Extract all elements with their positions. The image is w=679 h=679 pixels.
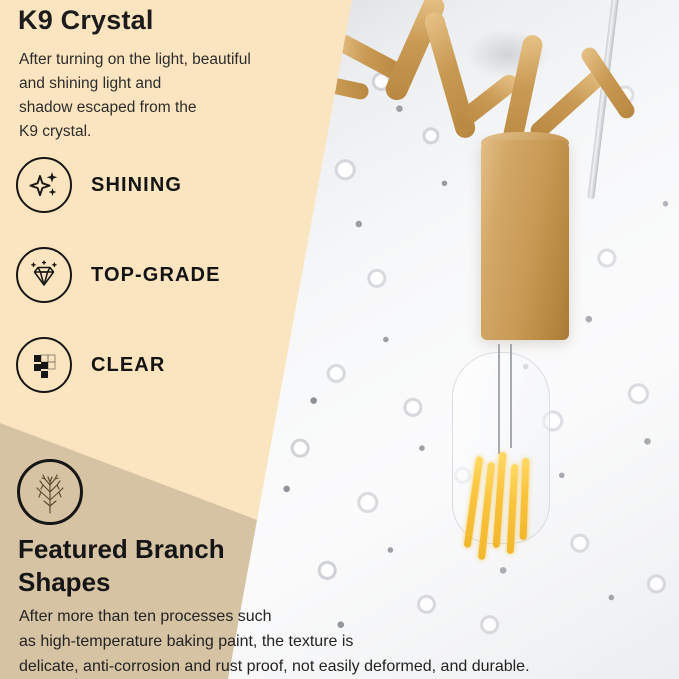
section-paragraph-line: After more than ten processes such — [19, 604, 669, 629]
intro-paragraph: After turning on the light, beautiful an… — [19, 48, 339, 144]
page-title: K9 Crystal — [18, 5, 154, 36]
intro-line: After turning on the light, beautiful — [19, 48, 339, 72]
section-paragraph-line: as high-temperature baking paint, the te… — [19, 629, 669, 654]
intro-line: and shining light and — [19, 72, 339, 96]
feature-item-top-grade: TOP-GRADE — [16, 247, 221, 303]
intro-line: K9 crystal. — [19, 120, 339, 144]
bare-tree-branch-icon — [17, 459, 83, 525]
section-paragraph-line: delicate, anti-corrosion and rust proof,… — [19, 654, 669, 679]
feature-item-clear: CLEAR — [16, 337, 165, 393]
feature-label: SHINING — [91, 174, 182, 197]
gold-lamp-socket — [481, 140, 569, 340]
product-feature-panel: K9 Crystal After turning on the light, b… — [0, 0, 679, 679]
section-paragraph: After more than ten processes such as hi… — [19, 604, 669, 679]
bulb-wire — [510, 344, 512, 448]
diamond-icon — [16, 247, 72, 303]
section-title: Featured Branch Shapes — [18, 533, 348, 599]
feature-label: CLEAR — [91, 354, 165, 377]
sparkle-icon — [16, 157, 72, 213]
intro-line: shadow escaped from the — [19, 96, 339, 120]
section-title-line: Featured Branch — [18, 533, 348, 566]
checkerboard-transparency-icon — [16, 337, 72, 393]
feature-item-shining: SHINING — [16, 157, 182, 213]
feature-label: TOP-GRADE — [91, 264, 221, 287]
bulb-wire — [498, 344, 500, 454]
section-title-line: Shapes — [18, 566, 348, 599]
